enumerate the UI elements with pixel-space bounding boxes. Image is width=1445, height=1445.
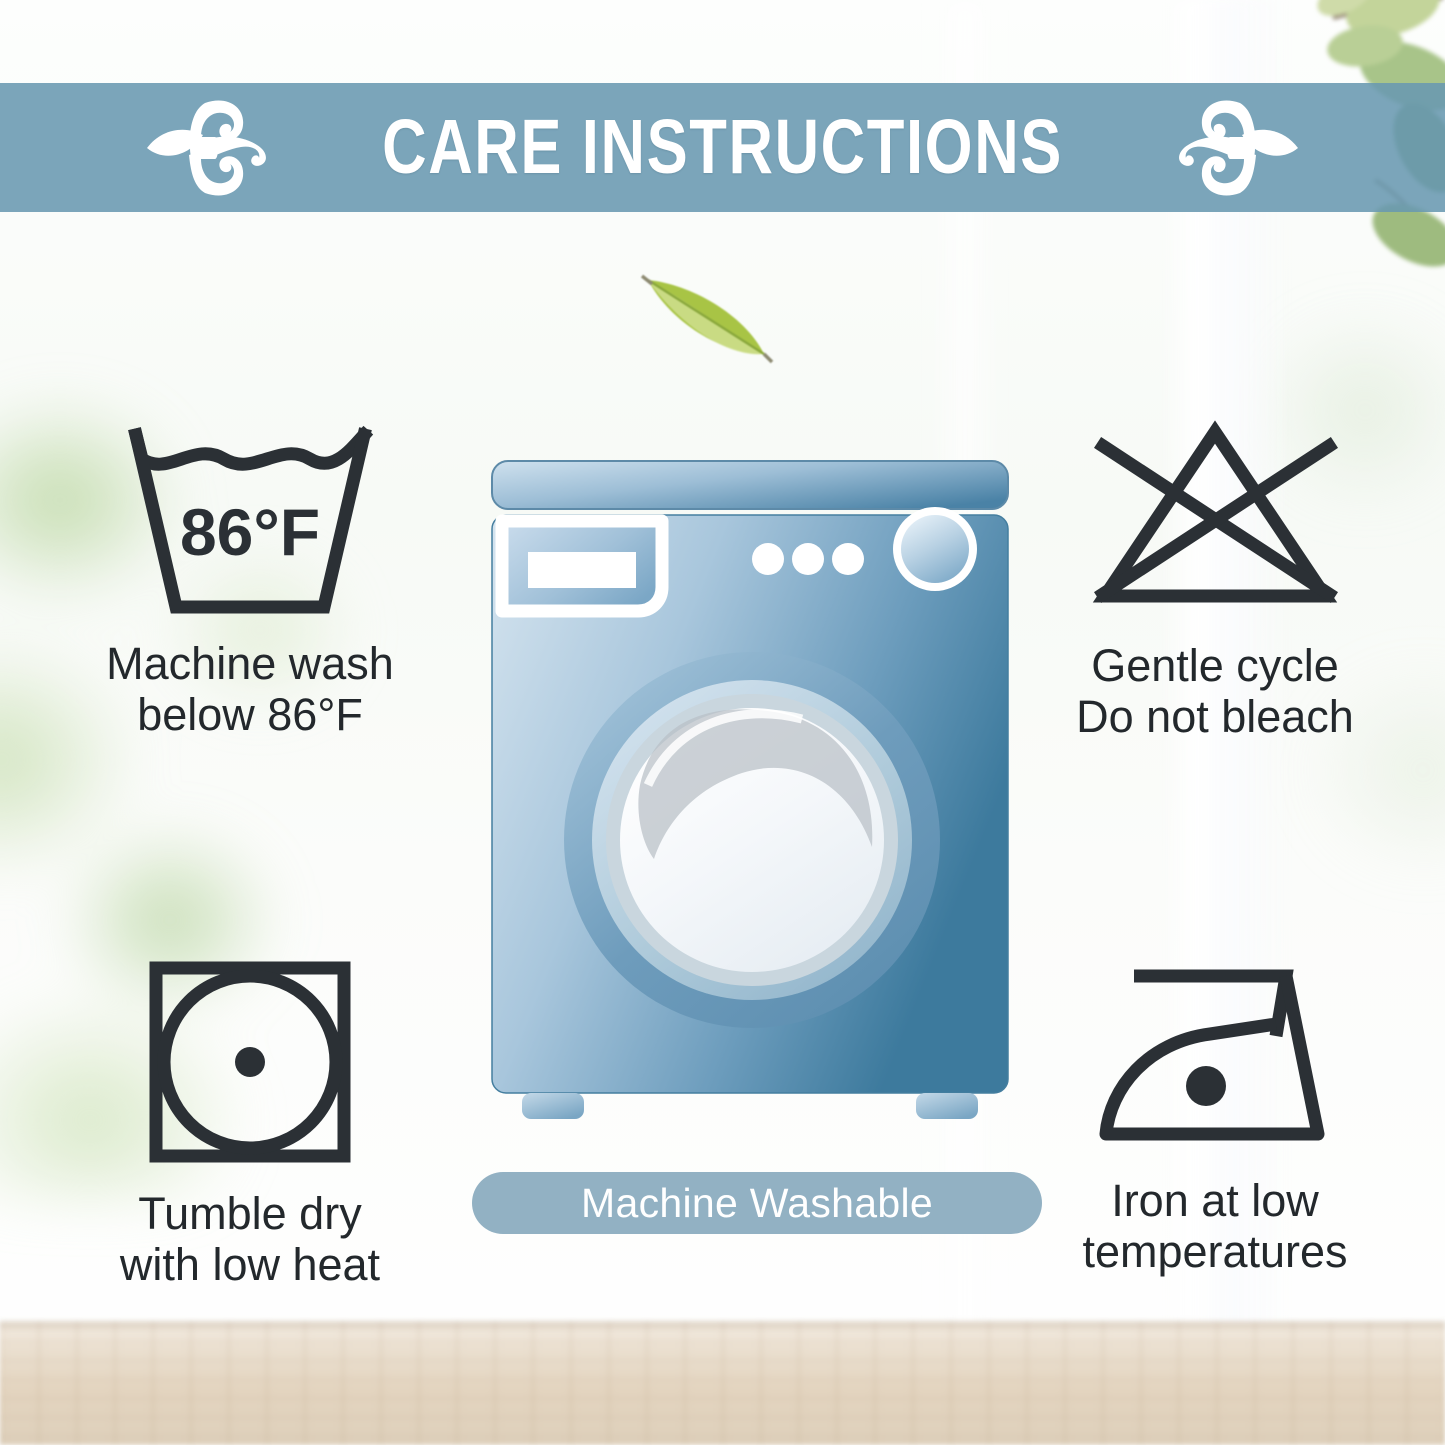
machine-washable-badge: Machine Washable <box>472 1172 1042 1234</box>
care-symbol-tumble-dry-low: Tumble dry with low heat <box>20 958 480 1291</box>
iron-low-heat-icon <box>1090 958 1340 1153</box>
fleur-de-lis-icon <box>145 93 275 203</box>
machine-washable-label: Machine Washable <box>581 1180 933 1227</box>
background-wood-surface <box>0 1322 1445 1445</box>
wash-tub-icon: 86°F <box>120 425 380 620</box>
care-symbol-iron-low: Iron at low temperatures <box>985 958 1445 1278</box>
do-not-bleach-triangle-icon <box>1085 418 1345 618</box>
care-symbol-do-not-bleach: Gentle cycle Do not bleach <box>985 418 1445 743</box>
fleur-de-lis-icon <box>1170 93 1300 203</box>
washing-machine-icon <box>480 455 1020 1130</box>
care-label-iron: Iron at low temperatures <box>985 1175 1445 1278</box>
care-label-do-not-bleach: Gentle cycle Do not bleach <box>985 640 1445 743</box>
page-title: CARE INSTRUCTIONS <box>382 103 1063 192</box>
care-symbol-machine-wash: 86°F Machine wash below 86°F <box>20 425 480 741</box>
care-label-tumble-dry: Tumble dry with low heat <box>20 1188 480 1291</box>
background-wood-edge <box>0 1322 1445 1332</box>
care-label-machine-wash: Machine wash below 86°F <box>20 638 480 741</box>
header-banner: CARE INSTRUCTIONS <box>0 83 1445 212</box>
tumble-dry-low-icon <box>146 958 354 1166</box>
falling-leaf-icon <box>640 270 780 370</box>
wash-tub-temperature: 86°F <box>180 495 320 569</box>
